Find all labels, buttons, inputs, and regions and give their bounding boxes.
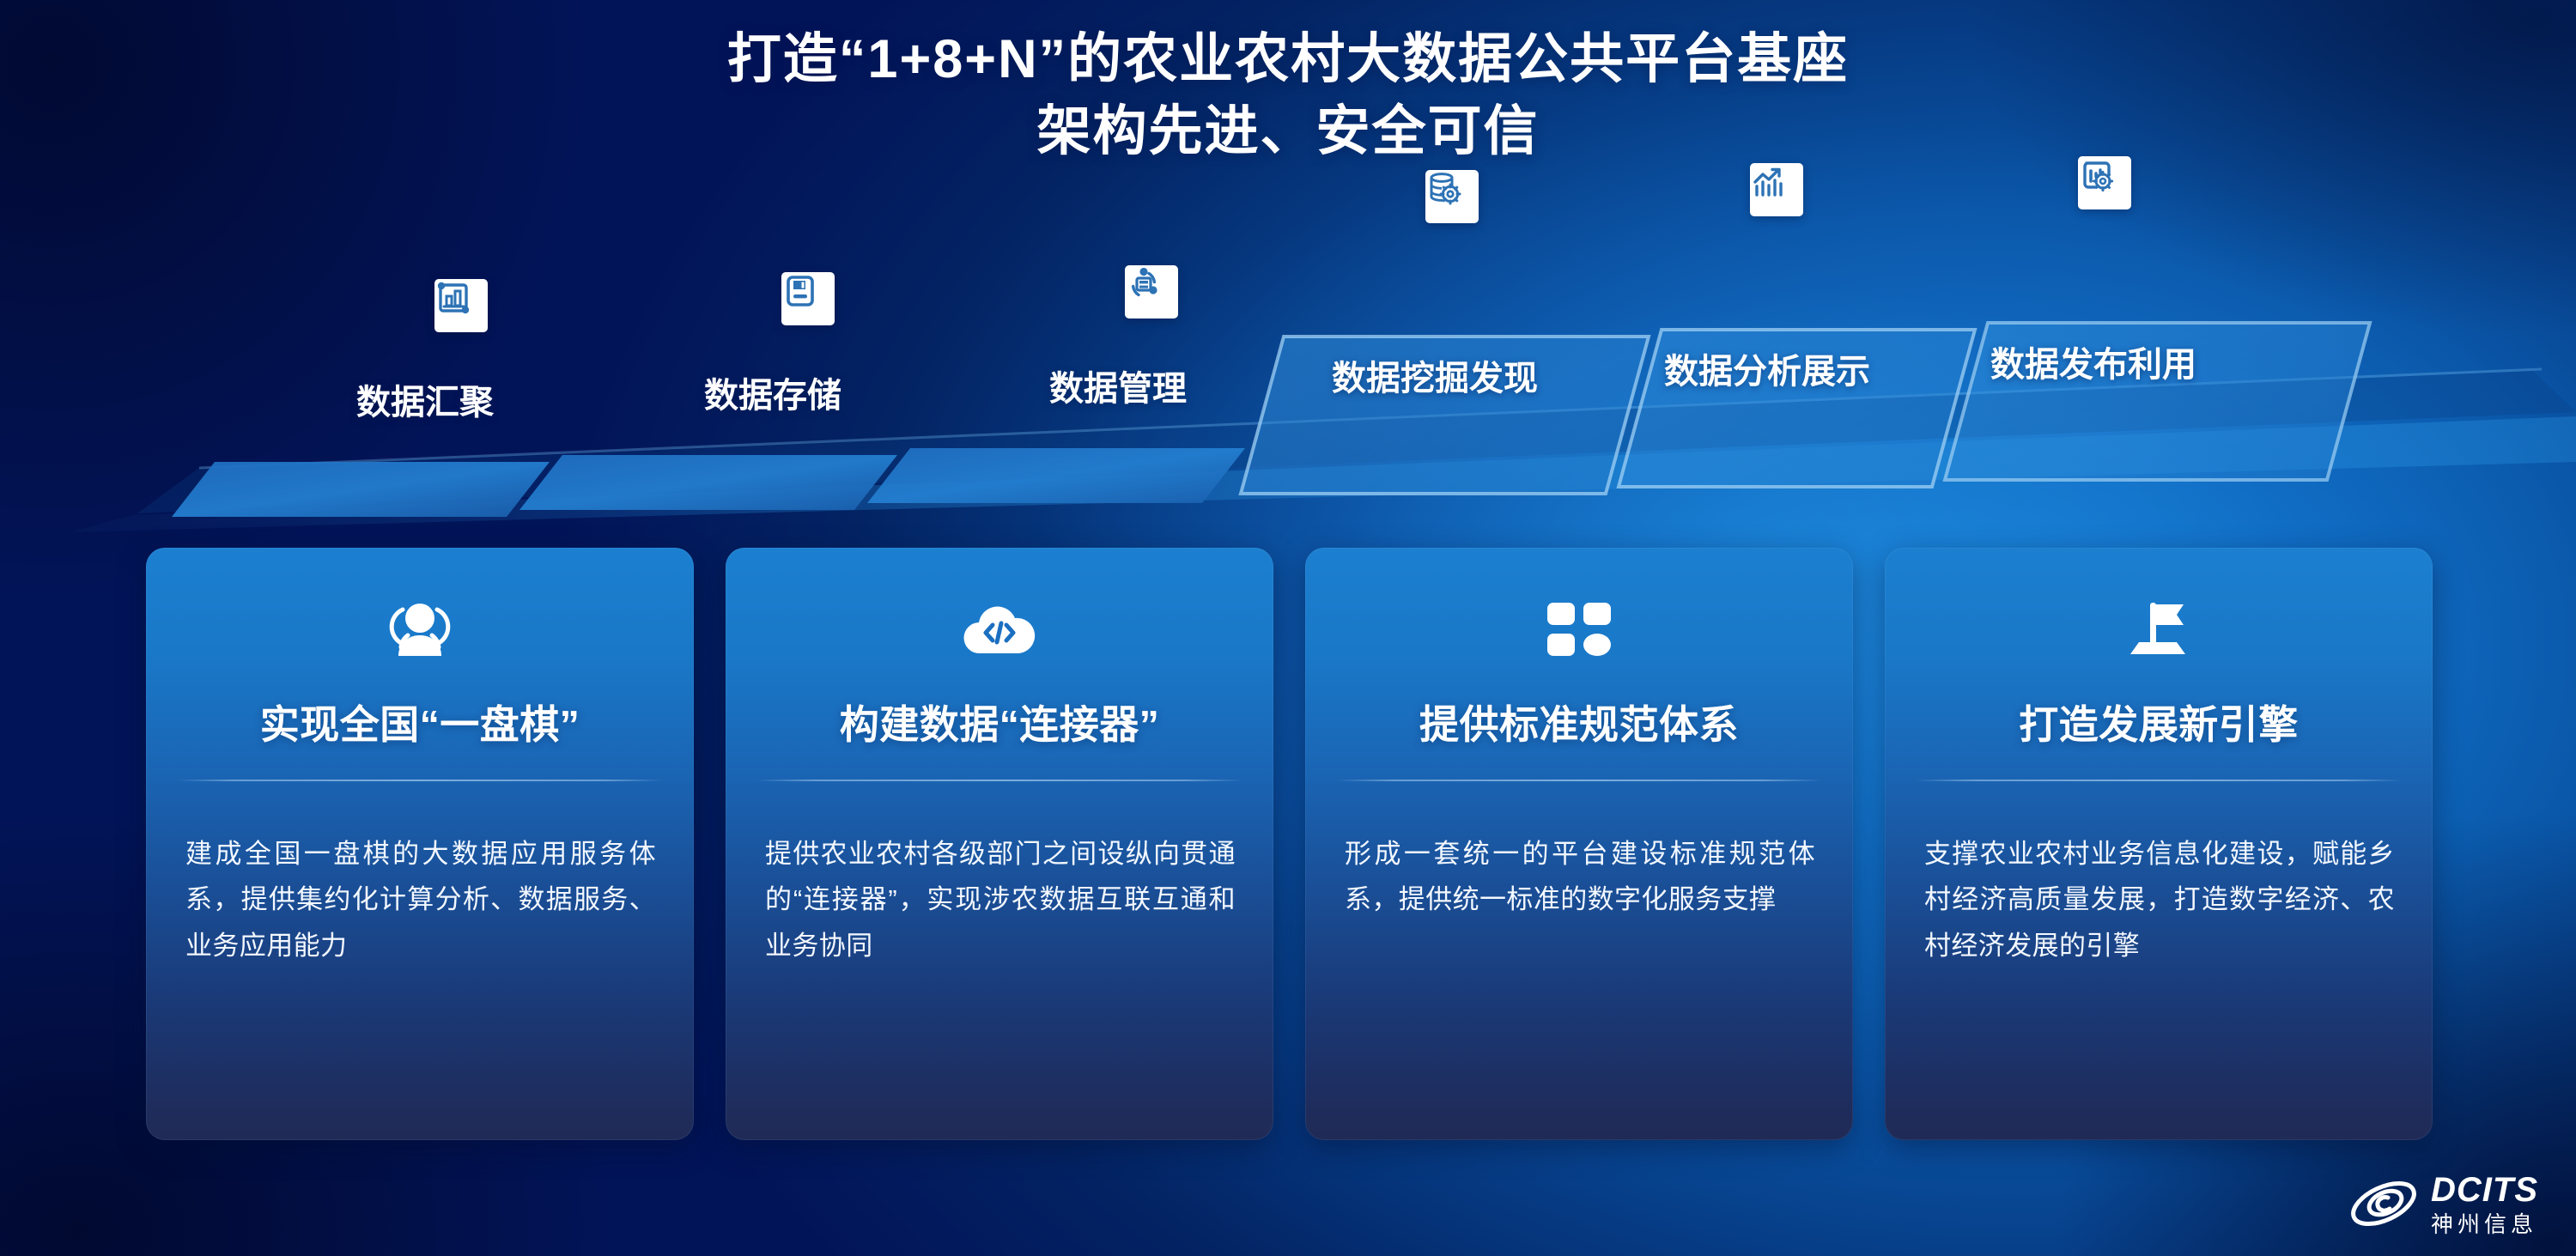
- company-logo: DCITS 神州信息: [2347, 1172, 2538, 1235]
- card-body-4: 支撑农业农村业务信息化建设，赋能乡村经济高质量发展，打造数字经济、农村经济发展的…: [1924, 831, 2395, 968]
- card-body-3: 形成一套统一的平台建设标准规范体系，提供统一标准的数字化服务支撑: [1345, 831, 1815, 923]
- trend-chart-icon: [1750, 163, 1803, 216]
- card-title-4: 打造发展新引擎: [1885, 694, 2433, 750]
- card-body-2: 提供农业农村各级部门之间设纵向贯通的“连接器”，实现涉农数据互联互通和业务协同: [765, 831, 1236, 968]
- logo-cn-text: 神州信息: [2431, 1213, 2538, 1235]
- card-divider-3: [1336, 780, 1822, 781]
- slide-title: 打造“1+8+N”的农业农村大数据公共平台基座 架构先进、安全可信: [0, 24, 2576, 168]
- database-gear-icon: [1425, 170, 1479, 223]
- card-title-3: 提供标准规范体系: [1305, 694, 1853, 750]
- feature-card-1[interactable]: 实现全国“一盘棋” 建成全国一盘棋的大数据应用服务体系，提供集约化计算分析、数据…: [146, 548, 694, 1140]
- title-line-2: 架构先进、安全可信: [0, 96, 2576, 168]
- card-divider-4: [1916, 780, 2402, 781]
- card-body-1: 建成全国一盘棋的大数据应用服务体系，提供集约化计算分析、数据服务、业务应用能力: [185, 831, 656, 968]
- bar-chart-frame-icon: [434, 279, 488, 332]
- card-title-1: 实现全国“一盘棋”: [146, 694, 694, 750]
- flag-milestone-icon: [1885, 594, 2433, 666]
- segment-label-4: 数据挖掘发现: [1332, 350, 1538, 400]
- segment-label-2: 数据存储: [704, 367, 841, 417]
- segment-label-6: 数据发布利用: [1990, 337, 2196, 386]
- floppy-disk-icon: [781, 272, 835, 325]
- data-pipeline-ribbon: 数据汇聚 数据存储 数据管理: [0, 318, 2576, 532]
- logo-text-block: DCITS 神州信息: [2431, 1173, 2538, 1235]
- feature-card-2[interactable]: 构建数据“连接器” 提供农业农村各级部门之间设纵向贯通的“连接器”，实现涉农数据…: [726, 548, 1273, 1140]
- data-management-orbit-icon: [1125, 265, 1178, 319]
- card-divider-1: [177, 780, 663, 781]
- card-divider-2: [756, 780, 1242, 781]
- four-blocks-icon: [1305, 594, 1853, 666]
- logo-en-text: DCITS: [2431, 1173, 2538, 1207]
- cloud-code-icon: [726, 594, 1273, 666]
- segment-label-3: 数据管理: [1049, 361, 1187, 410]
- title-line-1: 打造“1+8+N”的农业农村大数据公共平台基座: [0, 24, 2576, 96]
- segment-label-1: 数据汇聚: [356, 374, 494, 424]
- card-title-2: 构建数据“连接器”: [726, 694, 1273, 750]
- users-group-icon: [146, 594, 694, 666]
- feature-card-4[interactable]: 打造发展新引擎 支撑农业农村业务信息化建设，赋能乡村经济高质量发展，打造数字经济…: [1885, 548, 2433, 1140]
- feature-card-3[interactable]: 提供标准规范体系 形成一套统一的平台建设标准规范体系，提供统一标准的数字化服务支…: [1305, 548, 1853, 1140]
- dcits-swoosh-icon: [2347, 1172, 2421, 1235]
- feature-card-row: 实现全国“一盘棋” 建成全国一盘棋的大数据应用服务体系，提供集约化计算分析、数据…: [0, 548, 2576, 1149]
- segment-label-5: 数据分析展示: [1664, 343, 1870, 393]
